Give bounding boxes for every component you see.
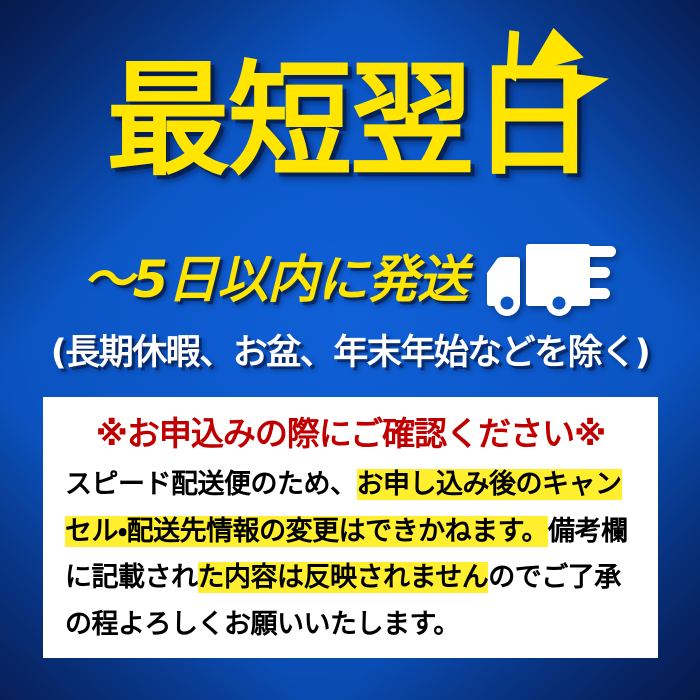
notice-card-body: スピード配送便のため、お申し込み後のキャンセル・配送先情報の変更はできかねます。… — [65, 462, 636, 648]
notice-segment-highlight-2: た内容は反映されません — [198, 562, 489, 593]
page-title: 最短翌日 — [106, 58, 594, 184]
notice-card: ※お申込みの際にご確認ください※ スピード配送便のため、お申し込み後のキャンセル… — [43, 397, 658, 658]
exclusion-note-text: (長期休暇、お盆、年末年始などを除く) — [51, 336, 650, 371]
notice-card-heading: ※お申込みの際にご確認ください※ — [43, 416, 658, 452]
promo-banner: 最短翌日 ～5日以内に発送 — [0, 0, 700, 700]
subline-container: ～5日以内に発送 — [0, 243, 700, 317]
exclusion-note-container: (長期休暇、お盆、年末年始などを除く) — [0, 336, 700, 371]
delivery-truck-icon — [483, 243, 617, 317]
notice-segment-plain-1: スピード配送便のため、 — [65, 469, 357, 500]
shipping-timeframe-text: ～5日以内に発送 — [83, 255, 468, 306]
headline-container: 最短翌日 — [0, 58, 700, 184]
